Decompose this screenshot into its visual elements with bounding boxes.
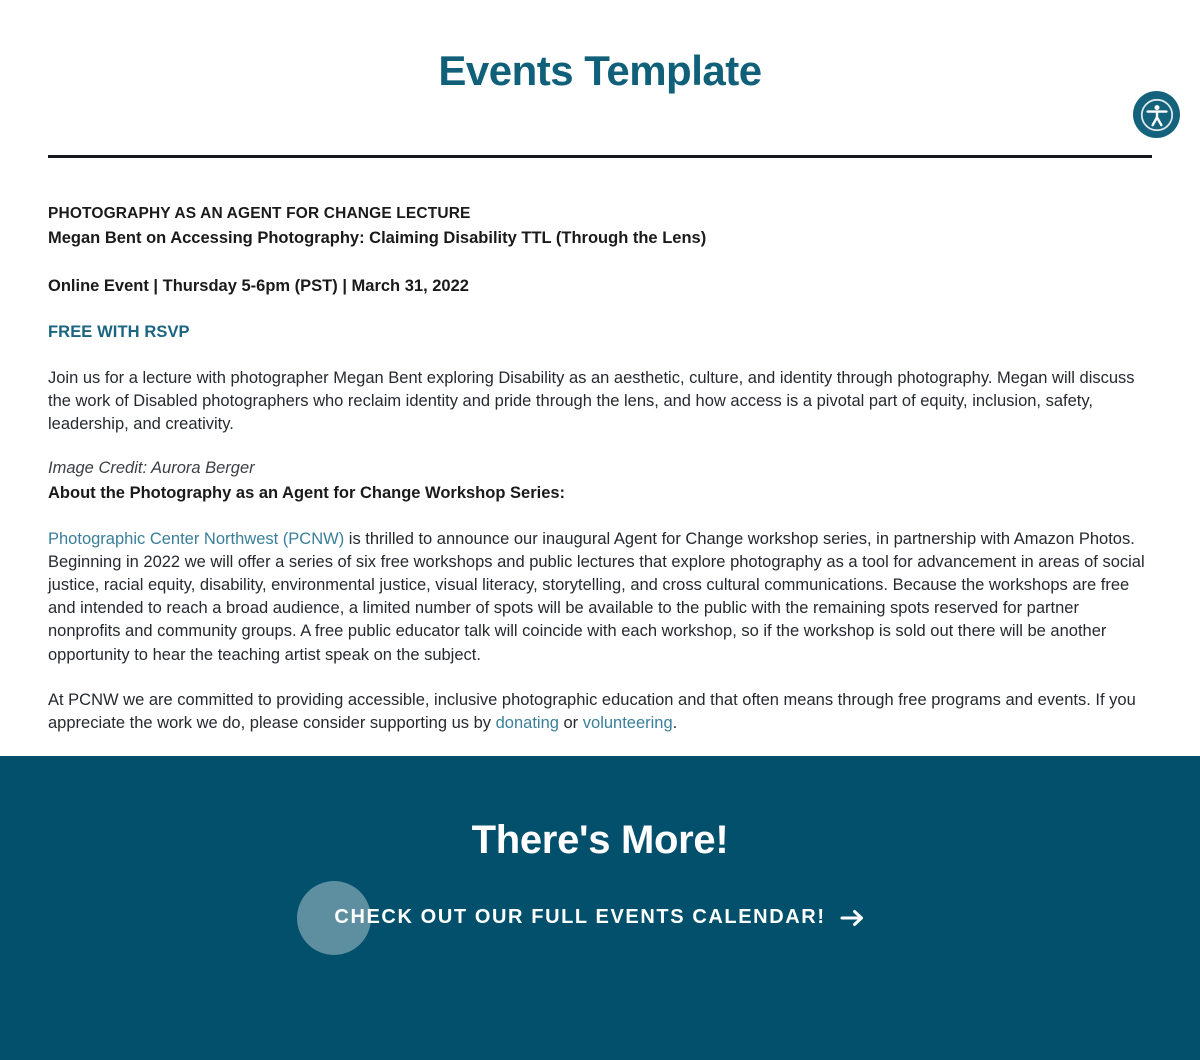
- page-title: Events Template: [0, 48, 1200, 94]
- main-content: PHOTOGRAPHY AS AN AGENT FOR CHANGE LECTU…: [0, 202, 1200, 735]
- page-header: Events Template: [0, 0, 1200, 160]
- accessibility-widget-button[interactable]: [1133, 91, 1180, 138]
- footer-cta-wrap: Check out our full events calendar!: [0, 906, 1200, 929]
- rsvp-notice: FREE WITH RSVP: [48, 320, 1152, 345]
- about-series-paragraph-text: is thrilled to announce our inaugural Ag…: [48, 530, 1145, 663]
- footer-section: There's More! Check out our full events …: [0, 756, 1200, 1060]
- donating-link[interactable]: donating: [496, 714, 559, 732]
- header-divider: [48, 155, 1152, 158]
- cta-label: Check out our full events calendar!: [334, 906, 825, 929]
- volunteering-link[interactable]: volunteering: [583, 714, 673, 732]
- arrow-right-icon: [840, 908, 866, 928]
- accessibility-person-icon: [1140, 98, 1174, 132]
- support-paragraph-conjunction: or: [559, 714, 583, 732]
- about-series-paragraph: Photographic Center Northwest (PCNW) is …: [48, 528, 1152, 667]
- lecture-series-eyebrow: PHOTOGRAPHY AS AN AGENT FOR CHANGE LECTU…: [48, 202, 1152, 226]
- support-paragraph-tail: .: [673, 714, 678, 732]
- pcnw-link[interactable]: Photographic Center Northwest (PCNW): [48, 530, 344, 548]
- image-credit: Image Credit: Aurora Berger: [48, 457, 1152, 481]
- support-paragraph: At PCNW we are committed to providing ac…: [48, 689, 1152, 735]
- lecture-subject-line: Megan Bent on Accessing Photography: Cla…: [48, 226, 1152, 251]
- footer-title: There's More!: [0, 756, 1200, 862]
- about-series-heading: About the Photography as an Agent for Ch…: [48, 481, 1152, 506]
- intro-paragraph: Join us for a lecture with photographer …: [48, 367, 1152, 436]
- events-calendar-cta-button[interactable]: Check out our full events calendar!: [334, 906, 865, 929]
- event-details-line: Online Event | Thursday 5-6pm (PST) | Ma…: [48, 274, 1152, 299]
